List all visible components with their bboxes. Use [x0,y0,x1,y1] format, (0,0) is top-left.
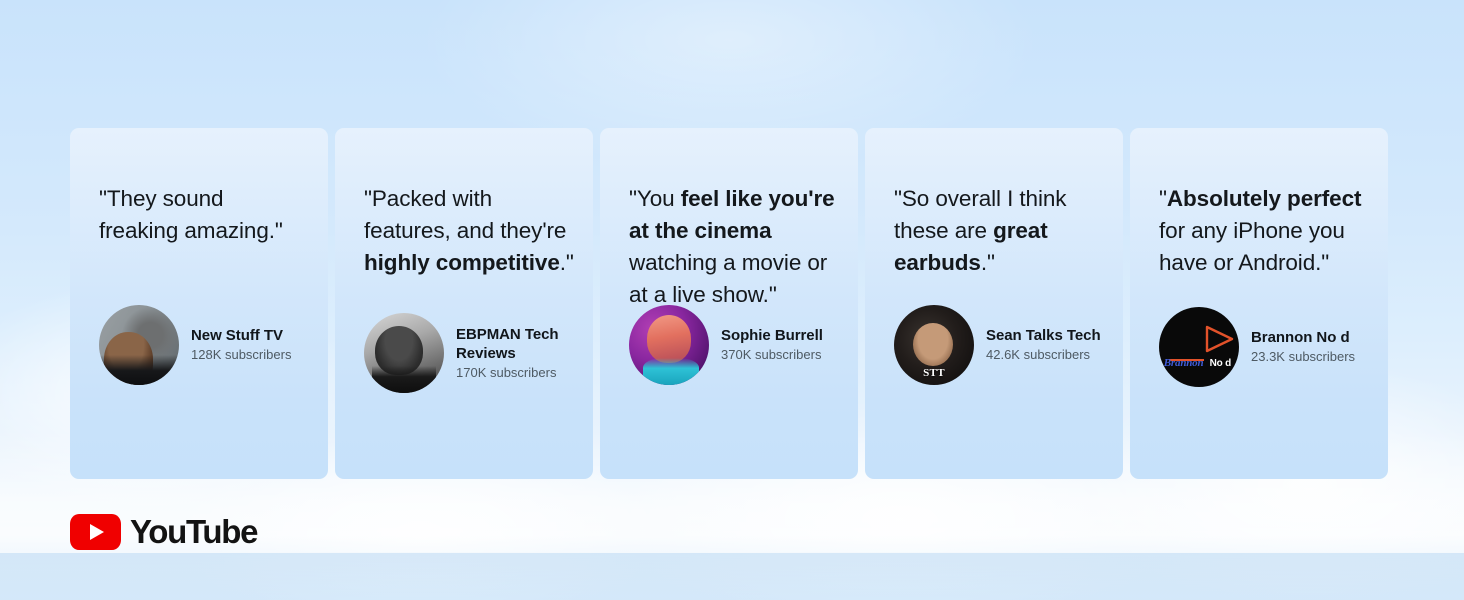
channel-name: Sophie Burrell [721,326,823,345]
testimonial-card-new-stuff-tv[interactable]: "They soundfreaking amazing." New Stuff … [70,128,328,479]
channel-meta: EBPMAN Tech Reviews 170K subscribers [456,325,581,382]
youtube-play-icon [70,514,121,550]
channel-name: Brannon No d [1251,328,1355,347]
brannon-nod-text: No d [1210,358,1231,369]
quote-text: "They soundfreaking amazing." [99,183,310,247]
channel-subscribers: 23.3K subscribers [1251,348,1355,366]
channel-subscribers: 370K subscribers [721,346,823,364]
channel-meta: New Stuff TV 128K subscribers [191,326,291,364]
channel-info[interactable]: New Stuff TV 128K subscribers [99,305,316,385]
sophie-burrell-avatar [629,305,709,385]
testimonial-card-sean-talks-tech[interactable]: "So overall I think these are great earb… [865,128,1123,479]
channel-name: New Stuff TV [191,326,291,345]
testimonial-card-sophie-burrell[interactable]: "You feel like you're at the cinema watc… [600,128,858,479]
quote-text: "You feel like you're at the cinema watc… [629,183,840,311]
testimonial-card-brannon-no-d[interactable]: "Absolutely perfect for any iPhone you h… [1130,128,1388,479]
channel-info[interactable]: EBPMAN Tech Reviews 170K subscribers [364,313,581,393]
brannon-script-text: Brannon [1164,357,1204,369]
channel-subscribers: 170K subscribers [456,364,581,382]
quote-text: "So overall I think these are great earb… [894,183,1105,279]
youtube-wordmark: YouTube [130,515,257,549]
brannon-no-d-avatar: Brannon No d [1159,307,1239,387]
quote-text: "Absolutely perfect for any iPhone you h… [1159,183,1370,279]
youtube-logo[interactable]: YouTube [70,514,257,550]
bottom-band [0,552,1464,600]
channel-name: EBPMAN Tech Reviews [456,325,581,363]
play-triangle-icon [1183,326,1205,352]
channel-meta: Brannon No d 23.3K subscribers [1251,328,1355,366]
channel-meta: Sean Talks Tech 42.6K subscribers [986,326,1101,364]
channel-info[interactable]: Sophie Burrell 370K subscribers [629,305,846,385]
channel-subscribers: 128K subscribers [191,346,291,364]
stt-badge: STT [894,367,974,379]
ebpman-tech-reviews-avatar [364,313,444,393]
channel-info[interactable]: Brannon No d Brannon No d 23.3K subscrib… [1159,307,1376,387]
testimonial-banner: "They soundfreaking amazing." New Stuff … [0,0,1464,600]
channel-info[interactable]: STT Sean Talks Tech 42.6K subscribers [894,305,1111,385]
channel-subscribers: 42.6K subscribers [986,346,1101,364]
channel-name: Sean Talks Tech [986,326,1101,345]
quote-text: "Packed with features, and they're highl… [364,183,575,279]
new-stuff-tv-avatar [99,305,179,385]
channel-meta: Sophie Burrell 370K subscribers [721,326,823,364]
sean-talks-tech-avatar: STT [894,305,974,385]
testimonial-card-ebpman-tech-reviews[interactable]: "Packed with features, and they're highl… [335,128,593,479]
testimonial-card-list: "They soundfreaking amazing." New Stuff … [70,128,1390,479]
